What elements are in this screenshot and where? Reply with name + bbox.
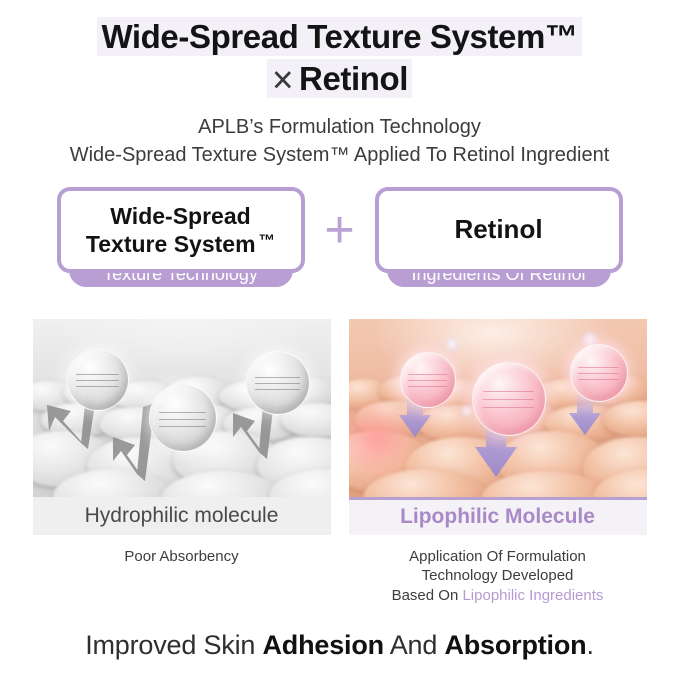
lipophilic-molecule-2 [472,362,546,436]
panel-lipophilic-caption-text: Lipophilic Molecule [400,505,595,529]
panel-lipophilic-desc-line3-plain: Based On [392,587,463,604]
panel-hydrophilic-image [33,319,331,497]
card-ingredients-retinol: Ingredients Of Retinol Retinol [375,187,623,305]
panel-lipophilic-desc-line1: Application Of Formulation [349,547,647,567]
lipophilic-molecule-1 [400,352,456,408]
footer-plain-3: . [586,630,593,660]
footer-bold-adhesion: Adhesion [263,630,384,660]
cards-row: Texture Technology Wide-Spread Texture S… [0,187,679,305]
card-left-title-line2-wrap: Texture System™ [86,230,275,258]
card-right-box: Retinol [375,187,623,273]
page-title-highlight-2: ✕Retinol [267,59,412,98]
panel-hydrophilic: Hydrophilic molecule Poor Absorbency [33,319,331,606]
footer-bold-absorption: Absorption [444,630,586,660]
card-left-title-line2: Texture System [86,231,256,257]
panel-hydrophilic-description: Poor Absorbency [33,547,331,567]
panel-lipophilic: Lipophilic Molecule Application Of Formu… [349,319,647,606]
card-left-title: Wide-Spread Texture System™ [86,202,275,258]
header: Wide-Spread Texture System™ ✕Retinol [0,0,679,100]
trademark-icon-card: ™ [256,231,276,250]
panel-hydrophilic-caption-text: Hydrophilic molecule [85,504,279,528]
page-title-line-2: ✕Retinol [0,58,679,100]
panel-hydrophilic-desc-line: Poor Absorbency [33,547,331,567]
card-left-box: Wide-Spread Texture System™ [57,187,305,273]
card-right-title: Retinol [454,214,542,246]
plus-icon: + [305,187,375,273]
cross-multiply-icon: ✕ [271,62,299,100]
subtitle-line-1: APLB’s Formulation Technology [0,114,679,141]
hydrophilic-molecule-3 [246,351,310,415]
page-title-retinol: Retinol [299,60,408,97]
page-title-line-1: Wide-Spread Texture System™ [0,16,679,58]
panel-lipophilic-image [349,319,647,497]
panel-lipophilic-caption: Lipophilic Molecule [349,497,647,535]
panel-hydrophilic-caption: Hydrophilic molecule [33,497,331,535]
card-left-title-line1: Wide-Spread [86,202,275,230]
panel-lipophilic-desc-line3-accent: Lipophilic Ingredients [462,587,603,604]
card-texture-technology: Texture Technology Wide-Spread Texture S… [57,187,305,305]
footer-tagline: Improved Skin Adhesion And Absorption. [0,630,679,661]
subtitle: APLB’s Formulation Technology Wide-Sprea… [0,114,679,168]
hydrophilic-molecule-1 [67,349,129,411]
hydrophilic-molecule-2 [149,384,217,452]
subtitle-line-2: Wide-Spread Texture System™ Applied To R… [0,142,679,169]
panels-row: Hydrophilic molecule Poor Absorbency [0,319,679,606]
lipophilic-molecule-3 [570,344,628,402]
panel-lipophilic-desc-line3: Based On Lipophilic Ingredients [349,586,647,606]
panel-lipophilic-desc-line2: Technology Developed [349,566,647,586]
footer-plain-1: Improved Skin [85,630,262,660]
page-title-text: Wide-Spread Texture System [101,18,545,55]
page-title-highlight: Wide-Spread Texture System™ [97,17,581,56]
footer-plain-2: And [384,630,445,660]
panel-lipophilic-description: Application Of Formulation Technology De… [349,547,647,606]
trademark-icon: ™ [545,18,578,55]
